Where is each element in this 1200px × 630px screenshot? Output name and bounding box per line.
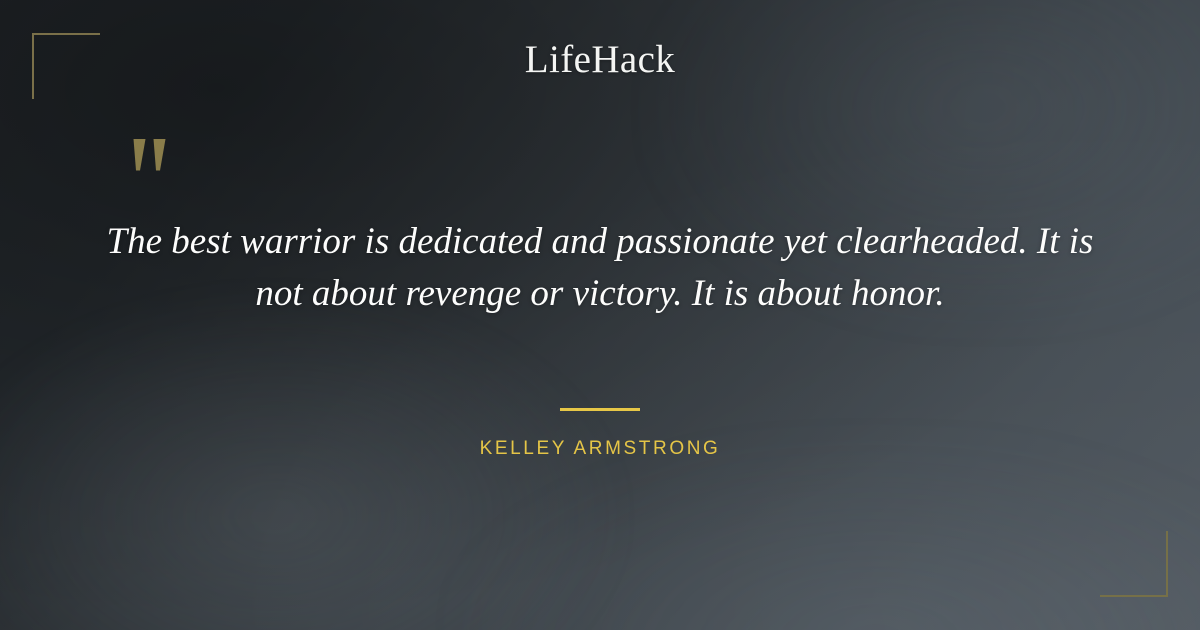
background-glow-bottom (456, 441, 1200, 630)
brand-logo[interactable]: LifeHack (0, 39, 1200, 82)
gold-divider (560, 408, 640, 411)
quote-text: The best warrior is dedicated and passio… (100, 216, 1100, 320)
double-quote-icon (127, 137, 179, 187)
corner-bracket-bottom-right (1100, 531, 1168, 597)
divider-container (0, 408, 1200, 411)
author-name: KELLEY ARMSTRONG (0, 438, 1200, 460)
quote-card: LifeHack The best warrior is dedicated a… (0, 0, 1200, 630)
